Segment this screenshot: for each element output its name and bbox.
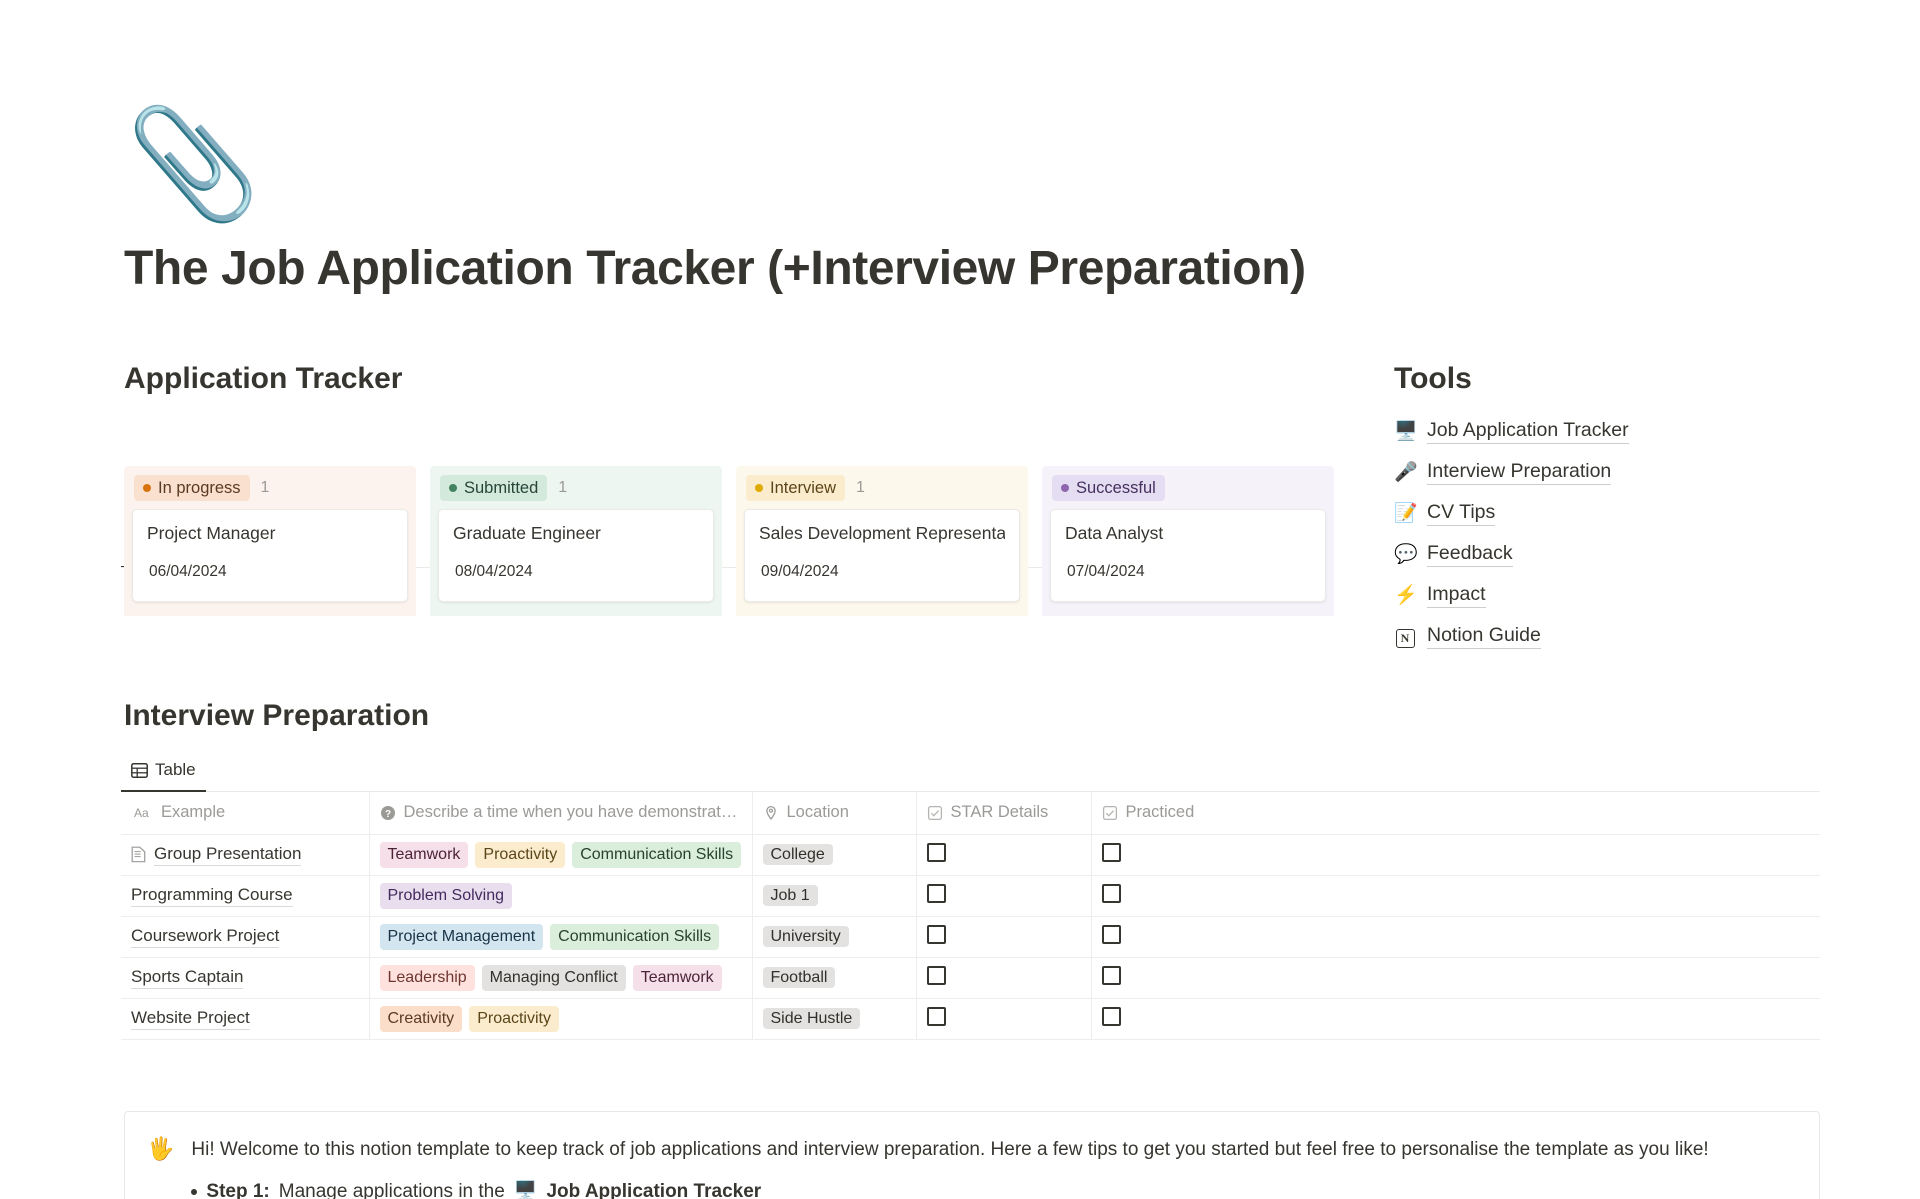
page-title: The Job Application Tracker (+Interview … xyxy=(124,241,1306,296)
table-column-header[interactable]: STAR Details xyxy=(916,792,1091,834)
card-date: 06/04/2024 xyxy=(147,563,393,581)
star-details-checkbox[interactable] xyxy=(927,884,946,903)
table-body: Group PresentationTeamworkProactivityCom… xyxy=(121,834,1820,1039)
cell-practiced-checkbox[interactable] xyxy=(1091,875,1820,916)
tab-table-label: Table xyxy=(155,760,196,780)
star-details-checkbox[interactable] xyxy=(927,925,946,944)
board-column-in-progress: In progress1Project Manager06/04/2024 xyxy=(124,466,416,616)
row-title: Website Project xyxy=(131,1008,359,1030)
tool-link-label: Feedback xyxy=(1427,542,1513,567)
speech-balloon-icon: 💬 xyxy=(1394,544,1416,566)
paperclip-emoji: 📎 xyxy=(126,103,248,225)
column-header-inner: AaExample xyxy=(131,803,359,822)
callout-bullet-item: Step 1: Manage applications in the 🖥️ Jo… xyxy=(191,1176,1708,1199)
board-card[interactable]: Data Analyst07/04/2024 xyxy=(1050,509,1326,602)
page-document-icon xyxy=(131,846,146,863)
interview-preparation-table: AaExample?Describe a time when you have … xyxy=(121,792,1820,1040)
status-dot-icon xyxy=(143,484,151,492)
card-date: 08/04/2024 xyxy=(453,563,699,581)
cell-practiced-checkbox[interactable] xyxy=(1091,998,1820,1039)
column-count: 1 xyxy=(558,479,567,497)
notion-page: 📎 The Job Application Tracker (+Intervie… xyxy=(0,0,1920,1199)
column-count: 1 xyxy=(856,479,865,497)
skill-tag: Proactivity xyxy=(469,1006,559,1032)
callout-bullet-link[interactable]: Job Application Tracker xyxy=(546,1176,761,1199)
tool-link-cv-tips[interactable]: 📝CV Tips xyxy=(1394,493,1874,534)
column-header-label: Example xyxy=(161,803,225,822)
tools-list: 🖥️Job Application Tracker🎤Interview Prep… xyxy=(1394,411,1874,657)
table-row[interactable]: Coursework ProjectProject ManagementComm… xyxy=(121,916,1820,957)
location-tag: Side Hustle xyxy=(763,1008,861,1029)
row-title-label: Programming Course xyxy=(131,885,293,907)
welcome-callout: 🖐️ Hi! Welcome to this notion template t… xyxy=(124,1111,1820,1199)
interview-preparation-heading: Interview Preparation xyxy=(124,699,429,733)
callout-text: Hi! Welcome to this notion template to k… xyxy=(191,1134,1708,1166)
memo-icon: 📝 xyxy=(1394,503,1416,525)
cell-practiced-checkbox[interactable] xyxy=(1091,834,1820,875)
row-title: Coursework Project xyxy=(131,926,359,948)
row-title-label: Coursework Project xyxy=(131,926,279,948)
row-title: Programming Course xyxy=(131,885,359,907)
table-row[interactable]: Group PresentationTeamworkProactivityCom… xyxy=(121,834,1820,875)
cell-star-details-checkbox[interactable] xyxy=(916,834,1091,875)
column-header-inner: STAR Details xyxy=(927,803,1081,822)
board-column-header: Successful xyxy=(1050,474,1326,502)
cell-skills[interactable]: LeadershipManaging ConflictTeamwork xyxy=(369,957,752,998)
skill-tag: Teamwork xyxy=(380,842,469,868)
table-column-header[interactable]: Location xyxy=(752,792,916,834)
row-title: Sports Captain xyxy=(131,967,359,989)
tool-link-feedback[interactable]: 💬Feedback xyxy=(1394,534,1874,575)
card-title: Sales Development Representative xyxy=(759,523,1005,544)
status-label: Interview xyxy=(770,477,836,499)
table-column-header[interactable]: Practiced xyxy=(1091,792,1820,834)
cell-practiced-checkbox[interactable] xyxy=(1091,916,1820,957)
board-column-interview: Interview1Sales Development Representati… xyxy=(736,466,1028,616)
status-dot-icon xyxy=(1061,484,1069,492)
tool-link-label: Impact xyxy=(1427,583,1486,608)
status-badge[interactable]: Submitted xyxy=(440,475,547,501)
column-count: 1 xyxy=(261,479,270,497)
cell-location[interactable]: University xyxy=(752,916,916,957)
status-badge[interactable]: Interview xyxy=(746,475,845,501)
table-column-header[interactable]: AaExample xyxy=(121,792,369,834)
skill-tag: Project Management xyxy=(380,924,544,950)
column-header-label: STAR Details xyxy=(951,803,1049,822)
status-label: In progress xyxy=(158,477,241,499)
row-title-label: Sports Captain xyxy=(131,967,243,989)
table-header: AaExample?Describe a time when you have … xyxy=(121,792,1820,834)
card-title: Project Manager xyxy=(147,523,393,544)
location-tag: University xyxy=(763,926,849,947)
column-header-inner: Practiced xyxy=(1102,803,1811,822)
card-title: Graduate Engineer xyxy=(453,523,699,544)
board-card[interactable]: Graduate Engineer08/04/2024 xyxy=(438,509,714,602)
skill-tag-group: Project ManagementCommunication Skills xyxy=(380,924,742,950)
status-label: Successful xyxy=(1076,477,1156,499)
card-date: 09/04/2024 xyxy=(759,563,1005,581)
star-details-checkbox[interactable] xyxy=(927,843,946,862)
row-title: Group Presentation xyxy=(131,844,359,866)
status-label: Submitted xyxy=(464,477,538,499)
callout-bullet-label: Step 1: xyxy=(206,1176,269,1199)
cell-example[interactable]: Coursework Project xyxy=(121,916,369,957)
tool-link-label: Interview Preparation xyxy=(1427,460,1611,485)
cell-star-details-checkbox[interactable] xyxy=(916,957,1091,998)
status-badge[interactable]: In progress xyxy=(134,475,250,501)
card-date: 07/04/2024 xyxy=(1065,563,1311,581)
row-title-label: Website Project xyxy=(131,1008,250,1030)
practiced-checkbox[interactable] xyxy=(1102,843,1121,862)
notion-logo-glyph: N xyxy=(1396,629,1415,648)
column-header-inner: ?Describe a time when you have demonstra… xyxy=(380,803,742,822)
cell-location[interactable]: College xyxy=(752,834,916,875)
table-grid-icon xyxy=(131,763,148,778)
location-tag: Football xyxy=(763,967,836,988)
board-card[interactable]: Project Manager06/04/2024 xyxy=(132,509,408,602)
tool-link-impact[interactable]: ⚡Impact xyxy=(1394,575,1874,616)
desktop-computer-icon: 🖥️ xyxy=(514,1176,538,1199)
cell-location[interactable]: Side Hustle xyxy=(752,998,916,1039)
table-view-tabs: Table xyxy=(121,756,1820,792)
svg-text:?: ? xyxy=(384,809,390,820)
cell-skills[interactable]: Problem Solving xyxy=(369,875,752,916)
board-column-successful: SuccessfulData Analyst07/04/2024 xyxy=(1042,466,1334,616)
skill-tag: Leadership xyxy=(380,965,475,991)
practiced-checkbox[interactable] xyxy=(1102,884,1121,903)
tool-link-label: CV Tips xyxy=(1427,501,1495,526)
cell-star-details-checkbox[interactable] xyxy=(916,916,1091,957)
cell-practiced-checkbox[interactable] xyxy=(1091,957,1820,998)
table-column-header[interactable]: ?Describe a time when you have demonstra… xyxy=(369,792,752,834)
skill-tag: Creativity xyxy=(380,1006,463,1032)
cell-example[interactable]: Sports Captain xyxy=(121,957,369,998)
high-voltage-icon: ⚡ xyxy=(1394,585,1416,607)
location-tag: Job 1 xyxy=(763,885,818,906)
skill-tag: Communication Skills xyxy=(550,924,719,950)
column-header-label: Location xyxy=(787,803,849,822)
skill-tag: Proactivity xyxy=(475,842,565,868)
tool-link-interview-preparation[interactable]: 🎤Interview Preparation xyxy=(1394,452,1874,493)
table-row[interactable]: Sports CaptainLeadershipManaging Conflic… xyxy=(121,957,1820,998)
star-details-checkbox[interactable] xyxy=(927,1007,946,1026)
table-row[interactable]: Website ProjectCreativityProactivitySide… xyxy=(121,998,1820,1039)
column-header-inner: Location xyxy=(763,803,906,822)
location-tag: College xyxy=(763,844,833,865)
star-details-checkbox[interactable] xyxy=(927,966,946,985)
tab-table[interactable]: Table xyxy=(121,756,206,792)
desktop-computer-icon: 🖥️ xyxy=(1394,421,1416,443)
checkbox-property-icon xyxy=(1102,805,1118,821)
callout-bullet-text-before: Manage applications in the xyxy=(279,1176,505,1199)
skill-tag-group: TeamworkProactivityCommunication Skills xyxy=(380,842,742,868)
skill-tag-group: Problem Solving xyxy=(380,883,742,909)
table-header-row: AaExample?Describe a time when you have … xyxy=(121,792,1820,834)
kanban-board: In progress1Project Manager06/04/2024Sub… xyxy=(124,466,1346,616)
practiced-checkbox[interactable] xyxy=(1102,966,1121,985)
status-dot-icon xyxy=(449,484,457,492)
checkbox-property-icon xyxy=(927,805,943,821)
location-pin-icon xyxy=(763,805,779,821)
skill-tag-group: LeadershipManaging ConflictTeamwork xyxy=(380,965,742,991)
board-column-header: In progress1 xyxy=(132,474,408,502)
skill-tag: Problem Solving xyxy=(380,883,513,909)
notion-logo-icon: N xyxy=(1394,626,1416,648)
cell-location[interactable]: Football xyxy=(752,957,916,998)
bullet-dot-icon xyxy=(191,1189,197,1195)
status-badge[interactable]: Successful xyxy=(1052,475,1165,501)
cell-example[interactable]: Programming Course xyxy=(121,875,369,916)
raised-hand-icon: 🖐️ xyxy=(147,1134,174,1199)
skill-tag-group: CreativityProactivity xyxy=(380,1006,742,1032)
cell-skills[interactable]: Project ManagementCommunication Skills xyxy=(369,916,752,957)
tool-link-job-application-tracker[interactable]: 🖥️Job Application Tracker xyxy=(1394,411,1874,452)
svg-text:Aa: Aa xyxy=(134,806,149,820)
skill-tag: Teamwork xyxy=(633,965,722,991)
board-column-header: Interview1 xyxy=(744,474,1020,502)
skill-tag: Communication Skills xyxy=(572,842,741,868)
practiced-checkbox[interactable] xyxy=(1102,925,1121,944)
skill-tag: Managing Conflict xyxy=(482,965,626,991)
table-row[interactable]: Programming CourseProblem SolvingJob 1 xyxy=(121,875,1820,916)
cell-example[interactable]: Group Presentation xyxy=(121,834,369,875)
board-column-header: Submitted1 xyxy=(438,474,714,502)
tool-link-notion-guide[interactable]: NNotion Guide xyxy=(1394,616,1874,657)
application-tracker-heading: Application Tracker xyxy=(124,362,402,396)
cell-star-details-checkbox[interactable] xyxy=(916,875,1091,916)
practiced-checkbox[interactable] xyxy=(1102,1007,1121,1026)
board-column-submitted: Submitted1Graduate Engineer08/04/2024 xyxy=(430,466,722,616)
board-card[interactable]: Sales Development Representative09/04/20… xyxy=(744,509,1020,602)
column-header-label: Describe a time when you have demonstrat… xyxy=(404,803,742,822)
tool-link-label: Notion Guide xyxy=(1427,624,1541,649)
column-header-label: Practiced xyxy=(1126,803,1195,822)
cell-example[interactable]: Website Project xyxy=(121,998,369,1039)
tools-heading: Tools xyxy=(1394,362,1472,396)
status-dot-icon xyxy=(755,484,763,492)
row-title-label: Group Presentation xyxy=(154,844,301,866)
cell-location[interactable]: Job 1 xyxy=(752,875,916,916)
title-icon: Aa xyxy=(131,805,153,821)
card-title: Data Analyst xyxy=(1065,523,1311,544)
microphone-icon: 🎤 xyxy=(1394,462,1416,484)
cell-star-details-checkbox[interactable] xyxy=(916,998,1091,1039)
cell-skills[interactable]: CreativityProactivity xyxy=(369,998,752,1039)
callout-body: Hi! Welcome to this notion template to k… xyxy=(191,1134,1708,1199)
cell-skills[interactable]: TeamworkProactivityCommunication Skills xyxy=(369,834,752,875)
tool-link-label: Job Application Tracker xyxy=(1427,419,1629,444)
question-icon: ? xyxy=(380,805,396,821)
